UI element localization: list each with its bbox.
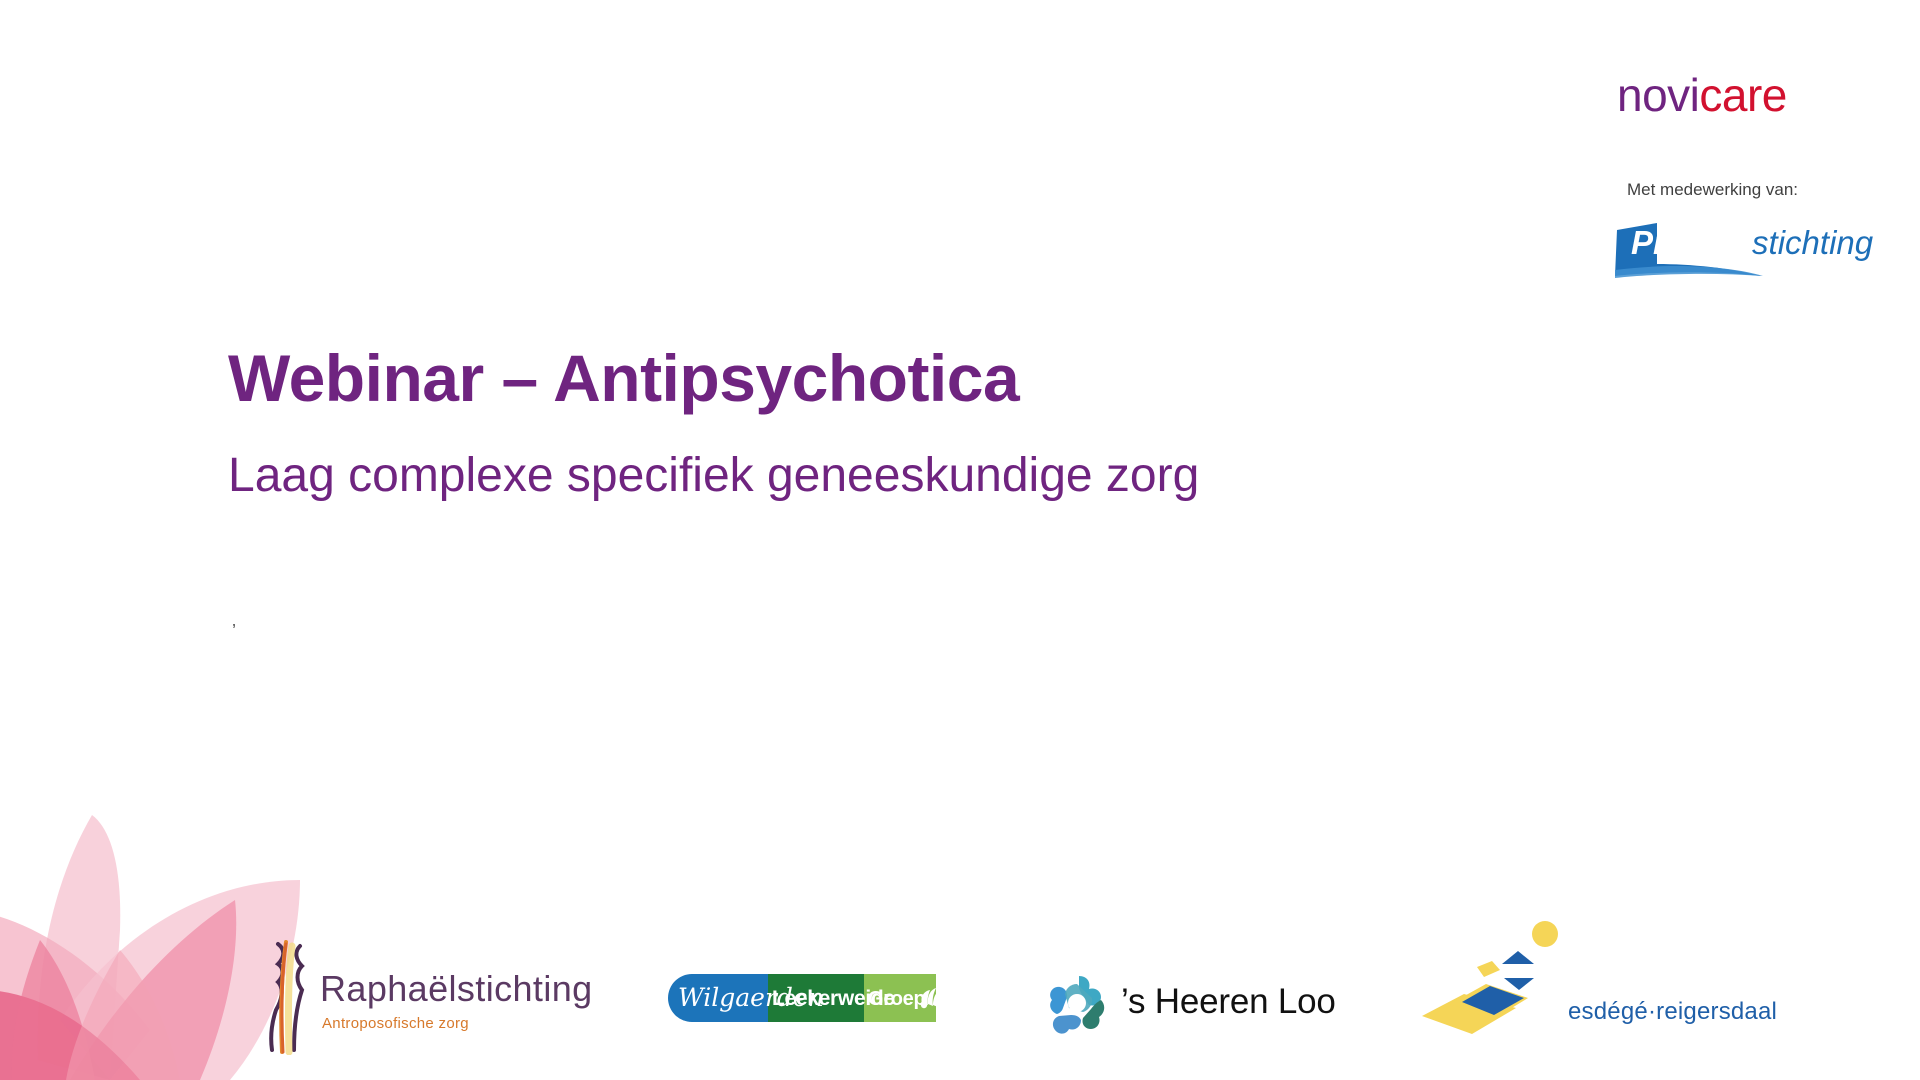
- heeren-loo-cloverleaf-icon: [1043, 966, 1115, 1038]
- raphaelstichting-figure-icon: [248, 940, 318, 1055]
- raphaelstichting-name: Raphaëlstichting: [320, 968, 593, 1010]
- partner-logo-raphaelstichting: Raphaëlstichting Antroposofische zorg: [248, 940, 568, 1060]
- novicare-logo-part-two: care: [1699, 69, 1786, 121]
- credit-label: Met medewerking van:: [1627, 180, 1798, 200]
- prinsenstichting-part-two: stichting: [1752, 224, 1873, 261]
- esdege-reigersdaal-name: esdégé·reigersdaal: [1568, 998, 1777, 1026]
- prinsenstichting-part-one: Prinsen: [1631, 224, 1752, 261]
- esdege-reigersdaal-diamond-icon: [1420, 920, 1580, 1040]
- heeren-loo-name: ’s Heeren Loo: [1121, 982, 1336, 1022]
- partner-logo-wilgaerden-leekerweidegroep: Wilgaerden Leekerweide Groep: [668, 974, 936, 1022]
- partner-logo-esdege-reigersdaal: esdégé·reigersdaal: [1420, 920, 1740, 1050]
- prinsenstichting-logo: Prinsenstichting: [1611, 220, 1881, 280]
- presentation-slide: novicare Met medewerking van: Prinsensti…: [0, 0, 1920, 1080]
- raphaelstichting-tagline: Antroposofische zorg: [322, 1015, 469, 1032]
- novicare-logo: novicare: [1617, 72, 1787, 118]
- novicare-logo-part-one: novi: [1617, 69, 1699, 121]
- partner-logo-heeren-loo: ’s Heeren Loo: [1043, 960, 1323, 1050]
- page-subtitle: Laag complexe specifiek geneeskundige zo…: [228, 448, 1199, 503]
- page-title: Webinar – Antipsychotica: [228, 340, 1019, 416]
- prinsenstichting-wordmark: Prinsenstichting: [1631, 226, 1873, 259]
- leaf-hand-icon: [916, 983, 946, 1013]
- body-text-marker: ’: [232, 622, 236, 640]
